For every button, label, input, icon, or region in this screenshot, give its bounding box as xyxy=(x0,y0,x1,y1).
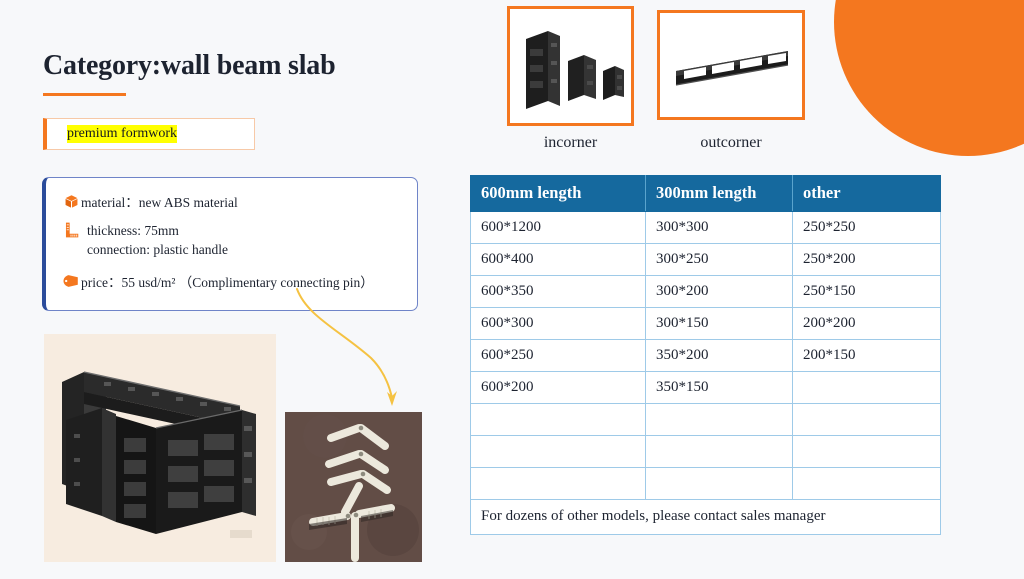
table-row: 600*200 350*150 xyxy=(471,372,941,404)
product-card-outcorner xyxy=(657,10,805,120)
size-cell: 600*300 xyxy=(471,308,646,340)
size-cell: 600*250 xyxy=(471,340,646,372)
spec-thickness-text: thickness: 75mm connection: plastic hand… xyxy=(81,221,228,260)
box-icon xyxy=(61,193,81,209)
size-cell: 250*150 xyxy=(793,276,941,308)
size-cell-empty xyxy=(646,404,793,436)
curved-arrow-icon xyxy=(295,288,415,413)
product-caption-incorner: incorner xyxy=(507,134,634,152)
size-cell: 300*250 xyxy=(646,244,793,276)
table-row xyxy=(471,468,941,500)
size-cell-empty xyxy=(793,436,941,468)
premium-formwork-chip: premium formwork xyxy=(43,118,255,150)
size-table-body: 600*1200 300*300 250*250 600*400 300*250… xyxy=(471,212,941,535)
sales-contact-note: For dozens of other models, please conta… xyxy=(471,500,941,535)
size-cell: 600*400 xyxy=(471,244,646,276)
size-cell-empty xyxy=(646,436,793,468)
size-cell: 200*150 xyxy=(793,340,941,372)
size-cell: 250*200 xyxy=(793,244,941,276)
size-cell: 200*200 xyxy=(793,308,941,340)
table-row: 600*400 300*250 250*200 xyxy=(471,244,941,276)
size-table-head: 600mm length 300mm length other xyxy=(471,176,941,212)
title-block: Category:wall beam slab xyxy=(43,50,335,96)
table-row: 600*250 350*200 200*150 xyxy=(471,340,941,372)
chip-label: premium formwork xyxy=(67,125,177,143)
page-title: Category:wall beam slab xyxy=(43,50,335,82)
product-caption-outcorner: outcorner xyxy=(657,134,805,152)
column-header-300mm: 300mm length xyxy=(646,176,793,212)
size-cell: 600*1200 xyxy=(471,212,646,244)
decorative-orange-circle xyxy=(834,0,1024,156)
table-row: 600*300 300*150 200*200 xyxy=(471,308,941,340)
size-table-header-row: 600mm length 300mm length other xyxy=(471,176,941,212)
spec-row-material: material：new ABS material xyxy=(46,193,417,213)
column-header-other: other xyxy=(793,176,941,212)
photo-connecting-pins xyxy=(285,412,422,562)
price-tag-icon xyxy=(61,273,81,288)
size-cell-empty xyxy=(646,468,793,500)
table-row: 600*1200 300*300 250*250 xyxy=(471,212,941,244)
photo-formwork-panels xyxy=(44,334,276,562)
size-cell: 300*300 xyxy=(646,212,793,244)
size-table: 600mm length 300mm length other 600*1200… xyxy=(470,175,941,535)
size-cell-empty xyxy=(793,404,941,436)
spec-connection-line2: connection: plastic handle xyxy=(81,242,228,257)
title-underline-rule xyxy=(43,93,126,96)
size-cell: 300*150 xyxy=(646,308,793,340)
size-cell: 300*200 xyxy=(646,276,793,308)
size-cell-empty xyxy=(471,404,646,436)
size-cell xyxy=(793,372,941,404)
spec-material-text: material：new ABS material xyxy=(81,193,238,213)
spec-row-thickness: thickness: 75mm connection: plastic hand… xyxy=(46,221,417,260)
size-cell-empty xyxy=(471,436,646,468)
table-row xyxy=(471,436,941,468)
size-cell-empty xyxy=(471,468,646,500)
spec-thickness-line1: thickness: 75mm xyxy=(81,223,179,238)
size-cell: 600*200 xyxy=(471,372,646,404)
ruler-icon xyxy=(61,221,81,238)
size-cell: 350*150 xyxy=(646,372,793,404)
size-cell: 250*250 xyxy=(793,212,941,244)
size-cell: 600*350 xyxy=(471,276,646,308)
slide-canvas: Category:wall beam slab premium formwork… xyxy=(0,0,1024,579)
size-cell: 350*200 xyxy=(646,340,793,372)
product-card-incorner xyxy=(507,6,634,126)
table-row xyxy=(471,404,941,436)
column-header-600mm: 600mm length xyxy=(471,176,646,212)
table-row: 600*350 300*200 250*150 xyxy=(471,276,941,308)
table-footer-row: For dozens of other models, please conta… xyxy=(471,500,941,535)
size-cell-empty xyxy=(793,468,941,500)
